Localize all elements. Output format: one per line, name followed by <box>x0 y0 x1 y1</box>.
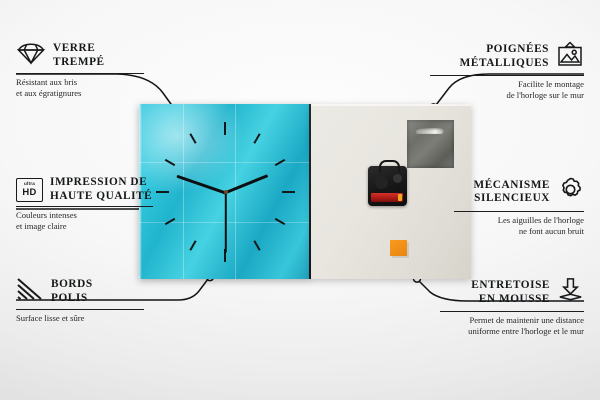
clock-hour-hand <box>225 174 268 194</box>
polished-edges-icon <box>16 277 44 306</box>
feature-subtitle: Résistant aux bris et aux égratignures <box>16 77 166 98</box>
feature-title: MÉCANISME SILENCIEUX <box>474 179 551 206</box>
foam-spacer <box>390 240 407 256</box>
feature-subtitle: Permet de maintenir une distance uniform… <box>440 315 584 336</box>
foam-spacer-arrow-icon <box>557 277 584 308</box>
feature-verre-trempe: VERRE TREMPÉ Résistant aux bris et aux é… <box>16 41 166 98</box>
feature-impression-haute-qualite: ultra HD IMPRESSION DE HAUTE QUALITÉ Cou… <box>16 176 184 231</box>
divider <box>16 206 153 207</box>
divider <box>440 311 584 312</box>
feature-mecanisme-silencieux: MÉCANISME SILENCIEUX Les aiguilles de l'… <box>454 176 584 236</box>
picture-frame-hanger-icon <box>556 41 584 72</box>
infographic-canvas: VERRE TREMPÉ Résistant aux bris et aux é… <box>0 0 600 400</box>
divider <box>16 309 144 310</box>
feature-title: ENTRETOISE EN MOUSSE <box>471 279 550 306</box>
feature-title: BORDS POLIS <box>51 278 93 305</box>
feature-title: VERRE TREMPÉ <box>53 42 105 69</box>
product-image <box>139 104 471 279</box>
gear-icon <box>557 176 584 208</box>
feature-entretoise-en-mousse: ENTRETOISE EN MOUSSE Permet de maintenir… <box>440 277 584 336</box>
metal-hanger-plate <box>407 120 454 168</box>
divider <box>16 73 144 74</box>
clock-movement <box>368 166 407 206</box>
divider <box>454 211 584 212</box>
ultra-hd-icon: ultra HD <box>16 178 43 202</box>
feature-subtitle: Surface lisse et sûre <box>16 313 166 324</box>
ultra-hd-icon-main-text: HD <box>22 187 36 196</box>
battery <box>371 193 403 202</box>
diamond-icon <box>16 41 46 70</box>
feature-subtitle: Facilite le montage de l'horloge sur le … <box>430 79 584 100</box>
feature-poignees-metalliques: POIGNÉES MÉTALLIQUES Facilite le montage… <box>430 41 584 100</box>
feature-subtitle: Couleurs intenses et image claire <box>16 210 184 231</box>
divider <box>430 75 584 76</box>
feature-title: IMPRESSION DE HAUTE QUALITÉ <box>50 176 152 203</box>
feature-bords-polis: BORDS POLIS Surface lisse et sûre <box>16 277 166 324</box>
feature-subtitle: Les aiguilles de l'horloge ne font aucun… <box>454 215 584 236</box>
clock-second-hand <box>225 193 227 253</box>
feature-title: POIGNÉES MÉTALLIQUES <box>460 43 549 70</box>
